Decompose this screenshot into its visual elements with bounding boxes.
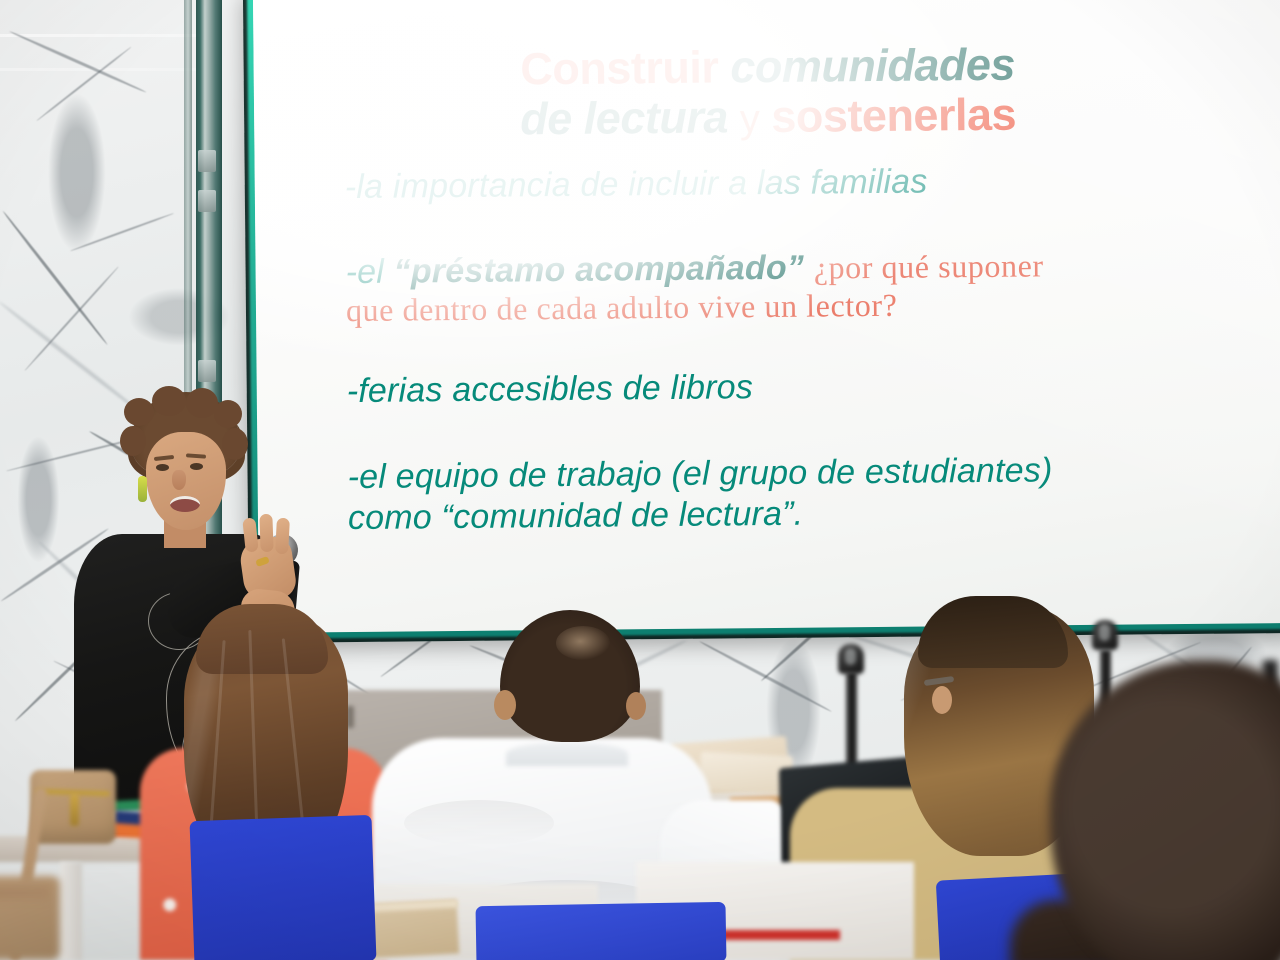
- microphone-clip-right: [1092, 620, 1118, 650]
- title-word-sostenerlas: sostenerlas: [771, 89, 1016, 142]
- secondary-bag-flap: [0, 886, 50, 900]
- bullet-prestamo-sub-line-1: ¿por qué suponer: [814, 248, 1044, 286]
- bullet-prestamo-prefix: -el: [345, 253, 393, 291]
- title-word-construir: Construir: [520, 41, 718, 94]
- slide-title-line-2: de lectura y sostenerlas: [288, 88, 1248, 148]
- presenter-nose: [172, 470, 186, 490]
- glass-clip-lower: [198, 360, 216, 382]
- presenter-hair-curl-4: [214, 400, 242, 428]
- title-word-de-lectura: de lectura: [520, 92, 728, 145]
- presenter-hair-curl-6: [222, 428, 248, 460]
- bullet-prestamo-sub-line-2: que dentro de cada adulto vive un lector…: [346, 286, 898, 327]
- shirt-fold-1: [404, 800, 554, 846]
- presenter-finger-1: [242, 517, 258, 552]
- slide-title-line-1: Construir comunidades: [287, 37, 1247, 97]
- presenter-finger-3: [275, 518, 290, 555]
- left-table-leg: [60, 862, 82, 960]
- presenter-mouth: [170, 496, 200, 512]
- slide-content: Construir comunidades de lectura y soste…: [253, 0, 1280, 633]
- bullet-prestamo-quoted: “préstamo acompañado”: [393, 249, 804, 291]
- presenter-eye-left: [156, 464, 169, 471]
- presenter-hair-curl-1: [124, 398, 154, 426]
- slide-title: Construir comunidades de lectura y soste…: [287, 37, 1248, 147]
- title-word-comunidades: comunidades: [730, 39, 1015, 93]
- presenter-earring: [138, 476, 147, 502]
- glass-clip-upper: [198, 150, 216, 172]
- bullet-equipo-line-2: como “comunidad de lectura”.: [348, 490, 1252, 540]
- slide-bullet-list: -la importancia de incluir a las familia…: [289, 158, 1253, 540]
- projection-screen[interactable]: Construir comunidades de lectura y soste…: [253, 0, 1280, 633]
- presenter-hair-curl-5: [120, 426, 146, 456]
- presenter-face: [146, 432, 226, 530]
- presenter-finger-2: [259, 514, 273, 552]
- presentation-photo-scene: Construir comunidades de lectura y soste…: [0, 0, 1280, 960]
- presenter-hair-curl-2: [152, 386, 186, 416]
- handbag-zipper-pull: [70, 794, 79, 826]
- audience-man-crown-highlight: [556, 626, 610, 660]
- blue-chair-left[interactable]: [190, 815, 377, 960]
- audience-man-ear-left: [494, 690, 516, 720]
- audience-man-collar: [506, 742, 628, 766]
- title-conjunction-y: y: [740, 97, 760, 141]
- blue-chair-center[interactable]: [475, 902, 726, 960]
- audience-man-ear-right: [626, 692, 646, 720]
- presenter-eye-right: [190, 463, 203, 470]
- audience-woman-leopard-ear: [932, 686, 952, 714]
- glass-clip-mid: [198, 190, 216, 212]
- microphone-clip-left: [838, 644, 864, 674]
